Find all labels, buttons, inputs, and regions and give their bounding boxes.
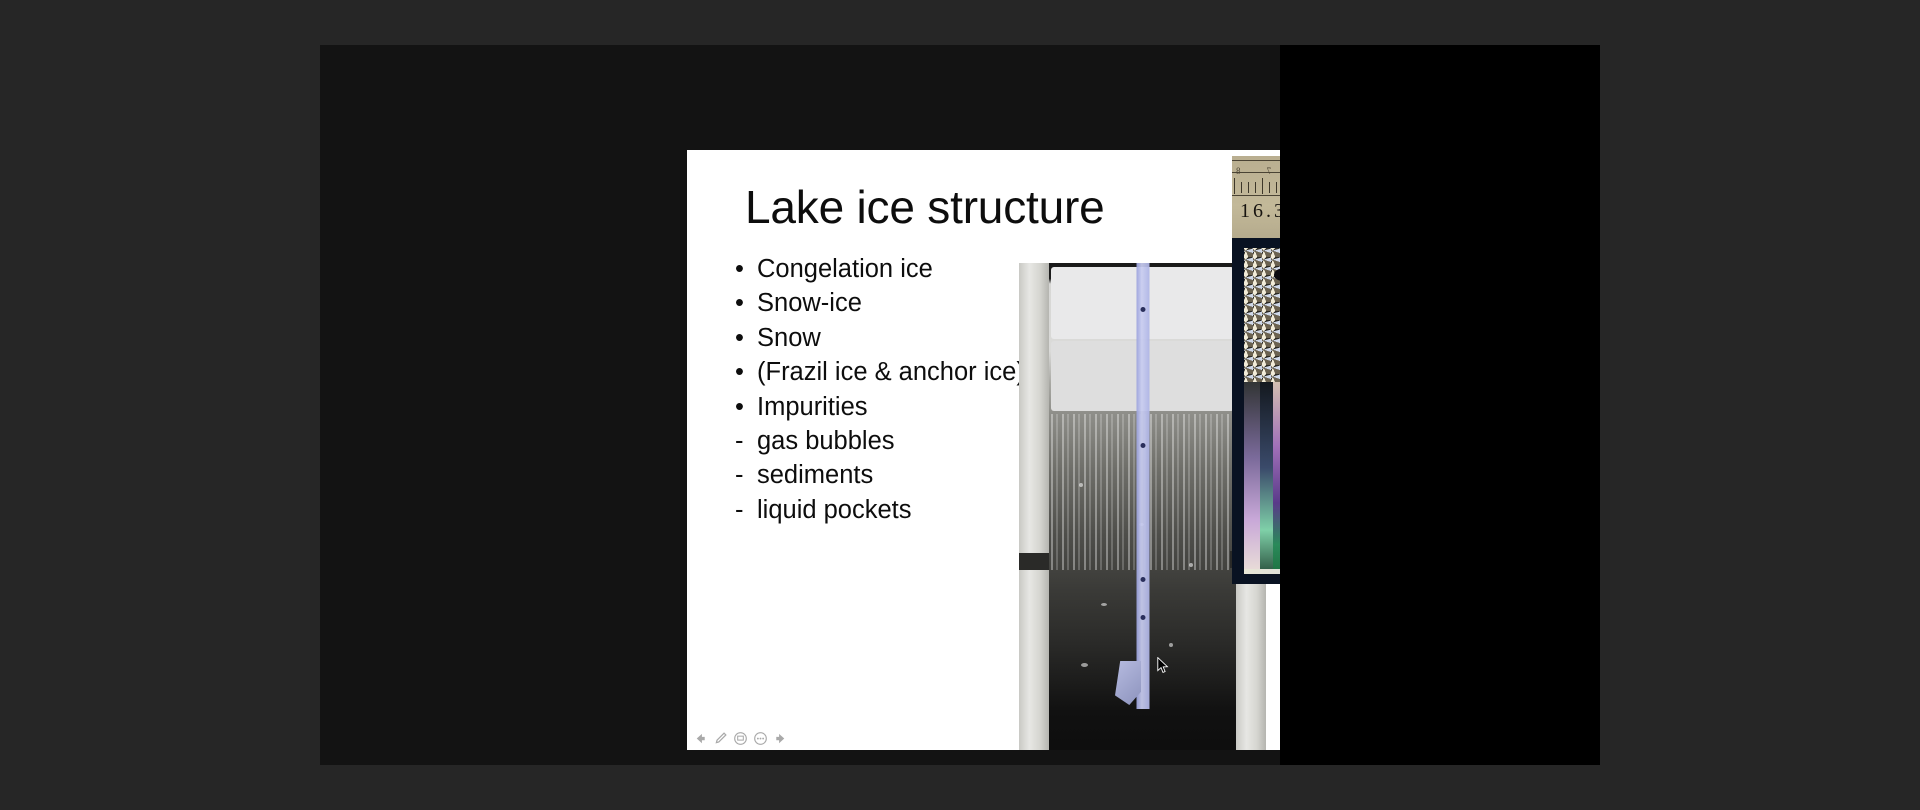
pen-annotation-icon[interactable] <box>713 731 728 746</box>
slide-title: Lake ice structure <box>745 180 1104 234</box>
more-options-icon[interactable] <box>753 731 768 746</box>
measuring-tape <box>1136 263 1149 709</box>
list-item: - gas bubbles <box>735 425 1055 458</box>
bullet-marker: - <box>735 459 757 492</box>
tape-mark <box>1140 577 1145 582</box>
bullet-marker: - <box>735 425 757 458</box>
bubble <box>1079 483 1083 487</box>
list-item: • Snow <box>735 322 1055 355</box>
ice-crystal <box>1260 382 1273 574</box>
tape-mark <box>1140 443 1145 448</box>
ice-stratification-photo <box>1019 263 1266 750</box>
bullet-text: liquid pockets <box>757 494 1055 527</box>
tape-mark <box>1140 307 1145 312</box>
mouse-cursor <box>1157 657 1169 675</box>
list-item: • Congelation ice <box>735 253 1055 286</box>
bubble <box>1081 663 1088 667</box>
presentation-toolbar[interactable] <box>693 731 788 746</box>
bullet-text: Snow-ice <box>757 287 1055 320</box>
list-item: • (Frazil ice & anchor ice) <box>735 356 1055 389</box>
bullet-marker: • <box>735 253 757 286</box>
next-slide-arrow-icon[interactable] <box>773 731 788 746</box>
screen-root: Lake ice structure • Congelation ice • S… <box>0 0 1920 810</box>
bullet-marker: • <box>735 356 757 389</box>
video-panel: Matti Leppäranta <box>1280 45 1600 765</box>
bullet-text: Snow <box>757 322 1055 355</box>
bullet-text: (Frazil ice & anchor ice) <box>757 356 1055 389</box>
bullet-marker: • <box>735 391 757 424</box>
screen-share-stage: Lake ice structure • Congelation ice • S… <box>320 45 1280 765</box>
list-item: • Snow-ice <box>735 287 1055 320</box>
frame-notch <box>1019 553 1049 570</box>
list-item: - liquid pockets <box>735 494 1055 527</box>
bullet-text: Congelation ice <box>757 253 1055 286</box>
bubble <box>1101 603 1107 606</box>
list-item: • Impurities <box>735 391 1055 424</box>
bullet-marker: - <box>735 494 757 527</box>
slide-bullet-list: • Congelation ice • Snow-ice • Snow • (F… <box>735 253 1055 528</box>
ice-crystal <box>1244 382 1260 574</box>
previous-slide-arrow-icon[interactable] <box>693 731 708 746</box>
core-frame-left <box>1019 263 1049 750</box>
bubble <box>1189 563 1193 567</box>
bullet-text: sediments <box>757 459 1055 492</box>
list-item: - sediments <box>735 459 1055 492</box>
bullet-marker: • <box>735 322 757 355</box>
bullet-text: gas bubbles <box>757 425 1055 458</box>
bullet-marker: • <box>735 287 757 320</box>
bubble <box>1169 643 1173 647</box>
tape-mark <box>1140 615 1145 620</box>
slide-thumbnails-icon[interactable] <box>733 731 748 746</box>
bullet-text: Impurities <box>757 391 1055 424</box>
